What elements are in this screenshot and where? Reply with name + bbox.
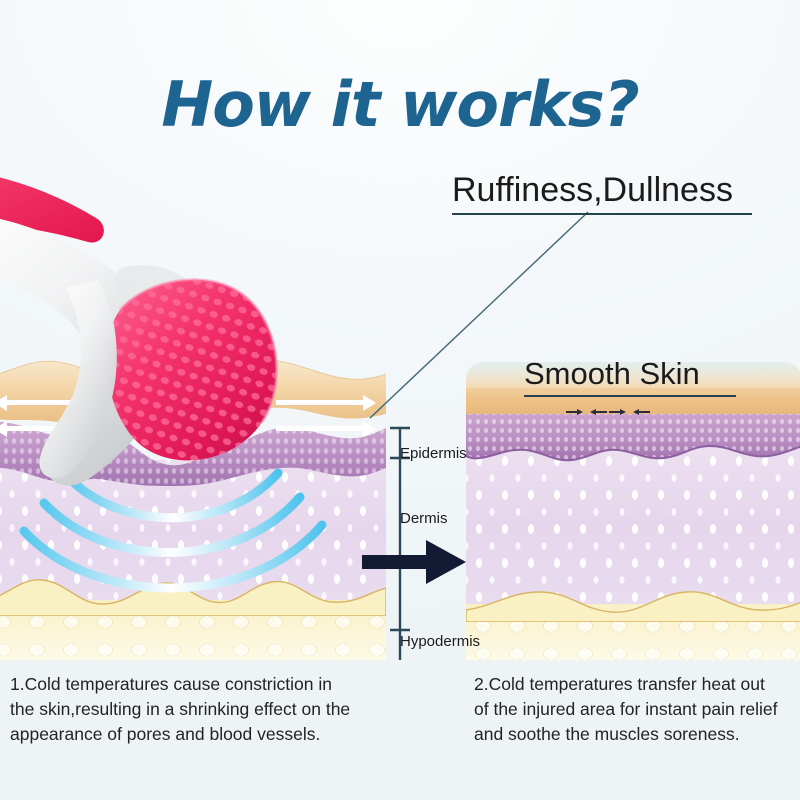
caption-step-1-line-2: the skin,resulting in a shrinking effect… (10, 697, 390, 722)
caption-step-1-line-1: 1.Cold temperatures cause constriction i… (10, 672, 390, 697)
callout-roughness: Ruffiness,Dullness (452, 171, 752, 215)
caption-step-2-line-1: 2.Cold temperatures transfer heat out (474, 672, 800, 697)
dermis-cell-texture (466, 444, 800, 604)
infographic-canvas: How it works? (0, 0, 800, 800)
compression-arrow-4 (633, 409, 650, 416)
derma-roller-device (0, 160, 320, 540)
callout-roughness-label: Ruffiness,Dullness (452, 171, 752, 210)
caption-step-1: 1.Cold temperatures cause constriction i… (10, 672, 390, 747)
callout-roughness-underline (452, 213, 752, 215)
compression-arrow-3 (609, 409, 626, 416)
caption-step-2: 2.Cold temperatures transfer heat out of… (474, 672, 800, 747)
caption-step-1-line-3: appearance of pores and blood vessels. (10, 722, 390, 747)
page-title: How it works? (0, 68, 800, 141)
compression-arrow-1 (566, 409, 583, 416)
layer-label-dermis: Dermis (400, 510, 448, 527)
callout-smooth-skin-label: Smooth Skin (524, 356, 736, 392)
caption-step-2-line-2: of the injured area for instant pain rel… (474, 697, 800, 722)
callout-smooth-skin-underline (524, 395, 736, 397)
layer-label-epidermis: Epidermis (400, 445, 467, 462)
callout-smooth-skin: Smooth Skin (524, 356, 736, 397)
compression-arrow-2 (590, 409, 607, 416)
dermis-layer-right (466, 444, 800, 604)
caption-step-2-line-3: and soothe the muscles soreness. (474, 722, 800, 747)
skin-cross-section-after (466, 362, 800, 660)
layer-label-hypodermis: Hypodermis (400, 633, 480, 650)
transition-arrow (362, 540, 466, 584)
